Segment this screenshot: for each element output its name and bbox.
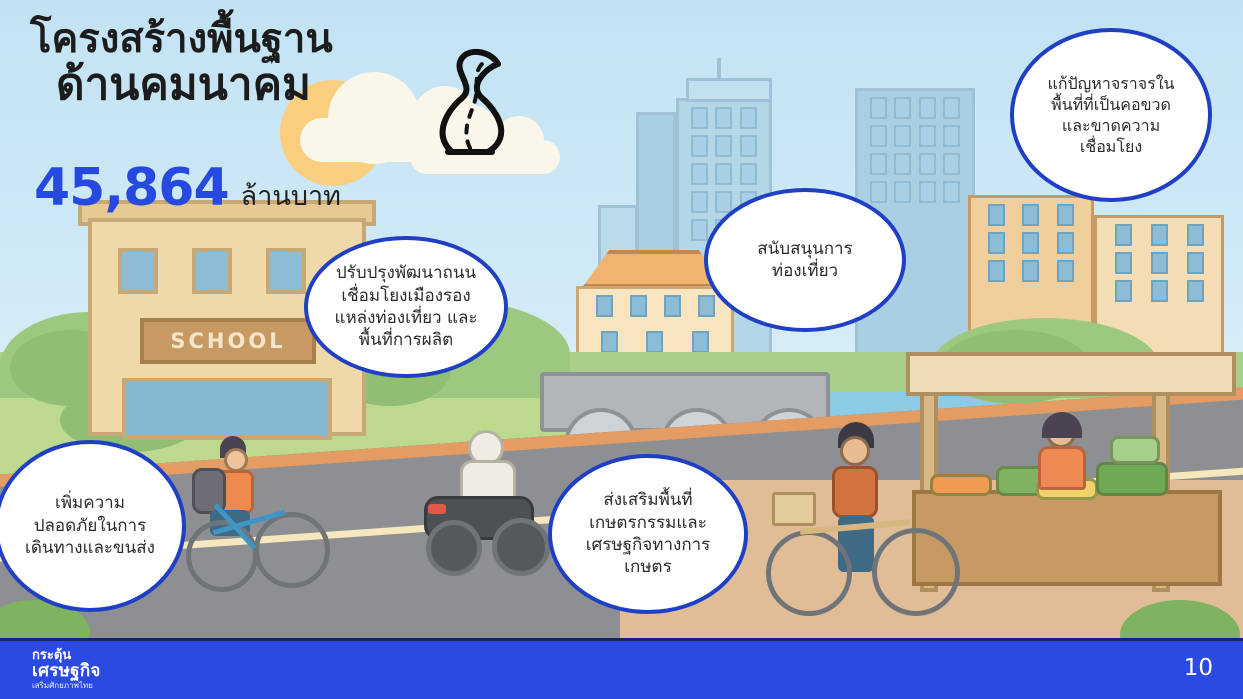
slide-canvas: SCHOOL	[0, 0, 1243, 699]
budget-amount-value: 45,864	[34, 158, 229, 218]
budget-amount-unit: ล้านบาท	[241, 174, 341, 217]
school-window	[266, 248, 306, 294]
budget-amount-row: 45,864 ล้านบาท	[34, 158, 341, 218]
produce-lettuce	[1110, 436, 1160, 464]
school-window	[118, 248, 158, 294]
bicycle-wheel	[766, 530, 852, 616]
page-title-line1: โครงสร้างพื้นฐาน	[30, 18, 333, 61]
building-spire-top	[686, 78, 772, 102]
motorcycle-wheel	[492, 518, 550, 576]
bicycle-basket	[772, 492, 816, 526]
callout-text-agriculture: ส่งเสริมพื้นที่ เกษตรกรรมและ เศรษฐกิจทาง…	[574, 489, 723, 579]
market-stall-roof	[906, 352, 1236, 396]
winding-road-icon	[418, 48, 528, 160]
school-sign: SCHOOL	[140, 318, 316, 364]
bicycle-wheel	[254, 512, 330, 588]
callout-bubble-roads[interactable]: ปรับปรุงพัฒนาถนน เชื่อมโยงเมืองรอง แหล่ง…	[304, 236, 508, 378]
produce-cabbage	[1096, 462, 1168, 496]
callout-bubble-traffic[interactable]: แก้ปัญหาจราจรใน พื้นที่ที่เป็นคอขวด และข…	[1010, 28, 1212, 202]
page-title-line2: ด้านคมนาคม	[56, 61, 333, 109]
campaign-logo: กระตุ้น เศรษฐกิจ เสริมศักยภาพไทย	[32, 649, 101, 691]
bicycle-wheel	[872, 528, 960, 616]
title-block: โครงสร้างพื้นฐาน ด้านคมนาคม	[30, 18, 333, 109]
footer-bar: กระตุ้น เศรษฐกิจ เสริมศักยภาพไทย 10	[0, 638, 1243, 699]
logo-line-2: เศรษฐกิจ	[32, 663, 101, 681]
motorcycle-wheel	[426, 520, 482, 576]
callout-text-roads: ปรับปรุงพัฒนาถนน เชื่อมโยงเมืองรอง แหล่ง…	[322, 262, 489, 352]
callout-bubble-safety[interactable]: เพิ่มความ ปลอดภัยในการ เดินทางและขนส่ง	[0, 440, 186, 612]
produce-carrots	[930, 474, 992, 496]
school-sign-label: SCHOOL	[170, 329, 285, 353]
logo-tagline: เสริมศักยภาพไทย	[32, 682, 101, 690]
building-antenna	[717, 58, 721, 80]
callout-text-tourism: สนับสนุนการ ท่องเที่ยว	[745, 238, 864, 283]
school-window	[192, 248, 232, 294]
callout-bubble-tourism[interactable]: สนับสนุนการ ท่องเที่ยว	[704, 188, 906, 332]
school-entrance-doors	[122, 378, 332, 440]
motorcycle-taillight	[428, 504, 446, 514]
callout-bubble-agriculture[interactable]: ส่งเสริมพื้นที่ เกษตรกรรมและ เศรษฐกิจทาง…	[548, 454, 748, 614]
callout-text-traffic: แก้ปัญหาจราจรใน พื้นที่ที่เป็นคอขวด และข…	[1036, 73, 1187, 157]
page-number: 10	[1184, 655, 1213, 681]
callout-text-safety: เพิ่มความ ปลอดภัยในการ เดินทางและขนส่ง	[13, 492, 167, 559]
